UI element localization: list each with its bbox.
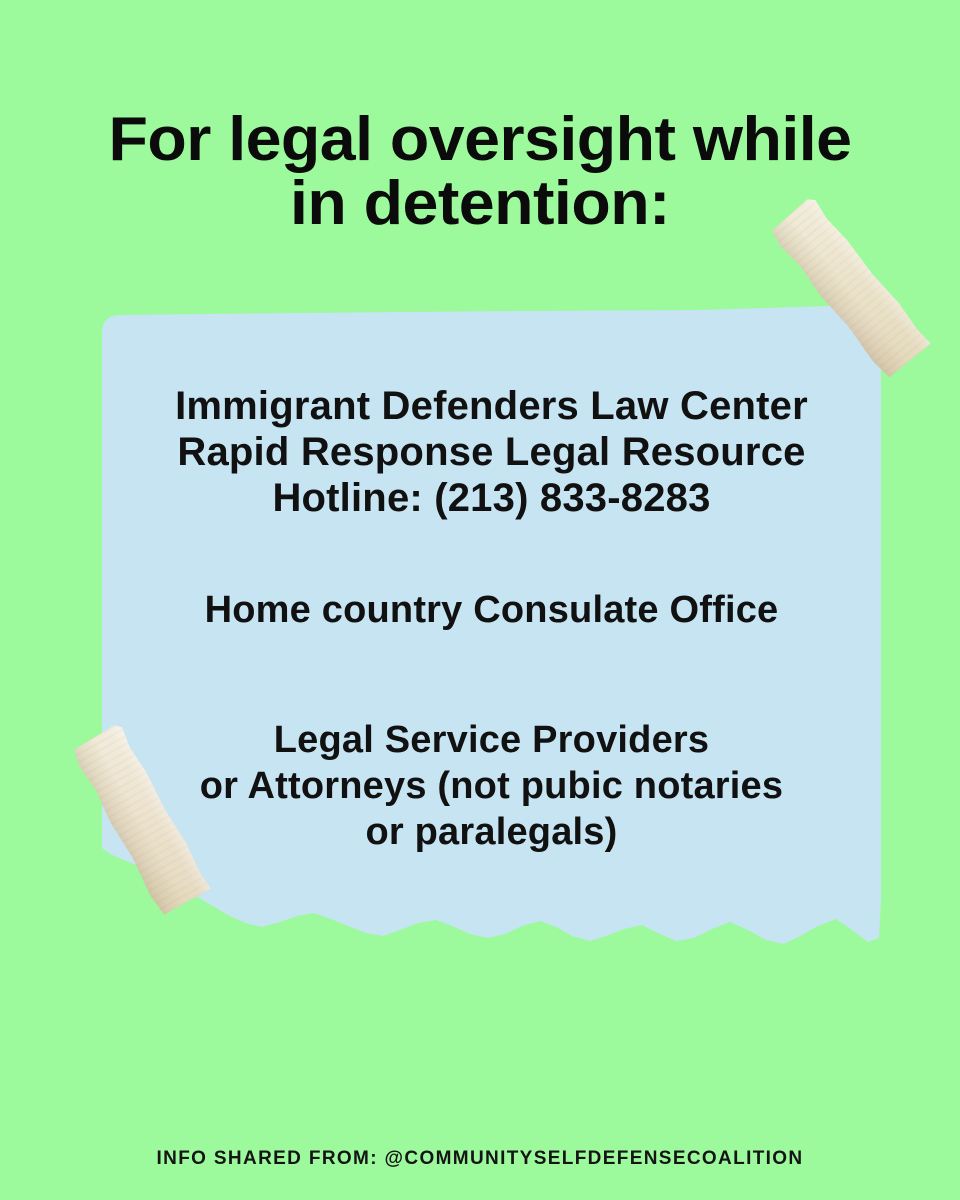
paper-text-content: Immigrant Defenders Law Center Rapid Res… <box>102 315 881 945</box>
poster-canvas: For legal oversight while in detention: … <box>0 0 960 1200</box>
legal-providers-block: Legal Service Providers or Attorneys (no… <box>102 717 881 855</box>
hotline-block: Immigrant Defenders Law Center Rapid Res… <box>102 383 881 521</box>
consulate-block: Home country Consulate Office <box>102 587 881 633</box>
footer-credit: INFO SHARED FROM: @COMMUNITYSELFDEFENSEC… <box>0 1148 960 1170</box>
page-title: For legal oversight while in detention: <box>0 108 960 236</box>
